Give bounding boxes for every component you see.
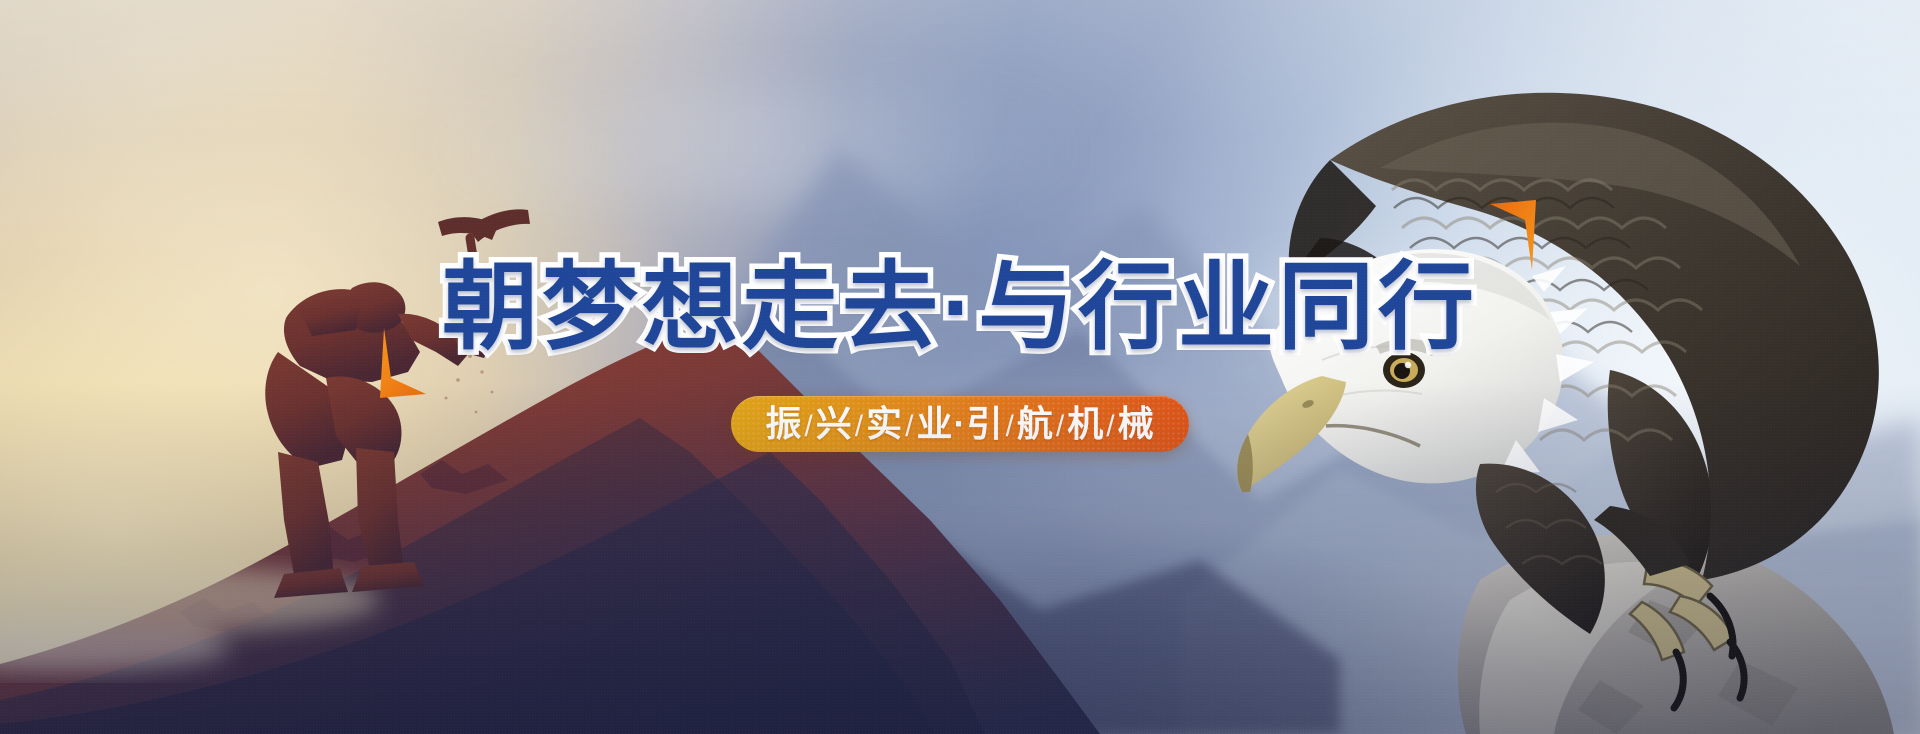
hero-banner: 朝梦想走去·与行业同行 振/兴/实/业·引/航/机/械 [0,0,1920,734]
background-vignette [0,0,1920,734]
